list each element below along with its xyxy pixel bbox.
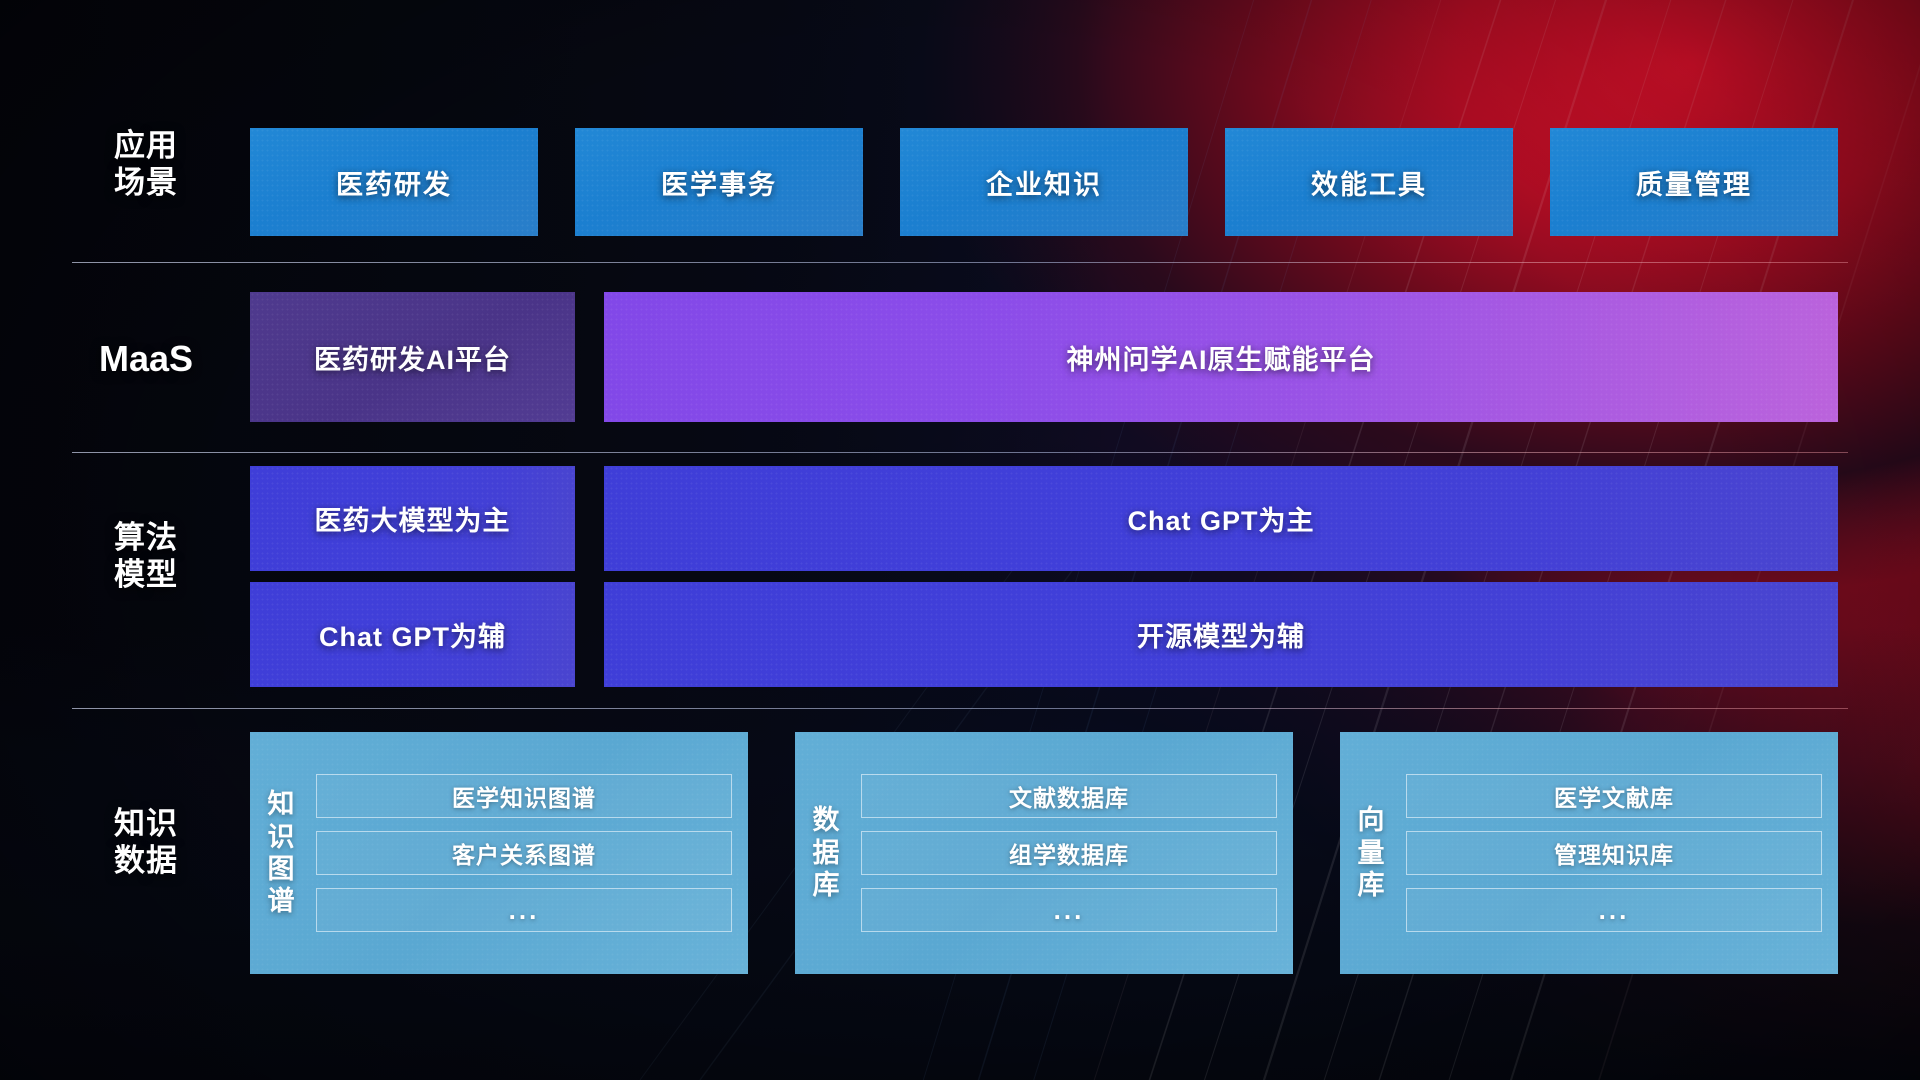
knowledge-chip-literature-database[interactable]: 文献数据库	[861, 774, 1277, 818]
divider-1	[72, 262, 1848, 263]
knowledge-chip-more[interactable]: ...	[1406, 888, 1822, 932]
vertical-label-char: 据	[813, 839, 840, 867]
divider-3	[72, 708, 1848, 709]
application-box-quality-management[interactable]: 质量管理	[1550, 128, 1838, 236]
box-label: 医药研发AI平台	[314, 338, 511, 377]
maas-box-shenzhou-ai-platform[interactable]: 神州问学AI原生赋能平台	[604, 292, 1838, 422]
box-label: 医药研发	[336, 163, 452, 202]
box-label: 质量管理	[1636, 163, 1752, 202]
box-label: Chat GPT为主	[1127, 499, 1314, 538]
maas-box-medical-ai-platform[interactable]: 医药研发AI平台	[250, 292, 575, 422]
chip-label: 文献数据库	[1009, 779, 1129, 813]
vertical-label-char: 库	[1358, 871, 1385, 899]
box-label: 开源模型为辅	[1137, 615, 1305, 654]
tier-label-line: 数据	[72, 843, 220, 880]
algorithm-box-chatgpt-secondary[interactable]: Chat GPT为辅	[250, 582, 575, 687]
vertical-label-char: 量	[1358, 839, 1385, 867]
knowledge-chip-omics-database[interactable]: 组学数据库	[861, 831, 1277, 875]
vertical-label-char: 数	[813, 806, 840, 834]
chip-label: ...	[1599, 895, 1630, 926]
box-label: 企业知识	[986, 163, 1102, 202]
knowledge-chip-medical-literature-library[interactable]: 医学文献库	[1406, 774, 1822, 818]
vertical-label-char: 知	[268, 790, 295, 818]
tier-label-algorithm-models: 算法 模型	[72, 520, 220, 593]
knowledge-chip-more[interactable]: ...	[316, 888, 732, 932]
knowledge-chip-more[interactable]: ...	[861, 888, 1277, 932]
vertical-label-char: 向	[1358, 806, 1385, 834]
vertical-label-char: 图	[268, 855, 295, 883]
vertical-label-char: 谱	[268, 887, 295, 915]
tier-label-knowledge-data: 知识 数据	[72, 806, 220, 879]
knowledge-panel-knowledge-graph[interactable]: 知 识 图 谱 医学知识图谱 客户关系图谱 ...	[250, 732, 748, 974]
panel-vertical-label-vector-store: 向 量 库	[1340, 732, 1402, 974]
application-box-efficiency-tools[interactable]: 效能工具	[1225, 128, 1513, 236]
box-label: Chat GPT为辅	[319, 615, 506, 654]
application-box-medical-rd[interactable]: 医药研发	[250, 128, 538, 236]
knowledge-panel-database[interactable]: 数 据 库 文献数据库 组学数据库 ...	[795, 732, 1293, 974]
box-label: 医学事务	[661, 163, 777, 202]
chip-label: 组学数据库	[1009, 836, 1129, 870]
tier-label-maas: MaaS	[72, 338, 220, 380]
panel-vertical-label-knowledge-graph: 知 识 图 谱	[250, 732, 312, 974]
tier-label-line: 场景	[72, 165, 220, 202]
chip-label: 客户关系图谱	[452, 836, 596, 870]
chip-label: ...	[1054, 895, 1085, 926]
chip-label: 医学文献库	[1554, 779, 1674, 813]
divider-2	[72, 452, 1848, 453]
tier-label-application-scenarios: 应用 场景	[72, 128, 220, 201]
knowledge-panel-vector-store[interactable]: 向 量 库 医学文献库 管理知识库 ...	[1340, 732, 1838, 974]
panel-chip-list: 医学文献库 管理知识库 ...	[1402, 732, 1838, 974]
box-label: 神州问学AI原生赋能平台	[1067, 338, 1376, 377]
application-box-medical-affairs[interactable]: 医学事务	[575, 128, 863, 236]
tier-label-line: 算法	[72, 520, 220, 557]
algorithm-box-medical-large-model-primary[interactable]: 医药大模型为主	[250, 466, 575, 571]
algorithm-box-opensource-secondary[interactable]: 开源模型为辅	[604, 582, 1838, 687]
chip-label: ...	[509, 895, 540, 926]
chip-label: 医学知识图谱	[452, 779, 596, 813]
box-label: 效能工具	[1311, 163, 1427, 202]
tier-label-line: MaaS	[72, 338, 220, 380]
panel-vertical-label-database: 数 据 库	[795, 732, 857, 974]
box-label: 医药大模型为主	[315, 499, 511, 538]
vertical-label-char: 识	[268, 823, 295, 851]
diagram-canvas: 应用 场景 医药研发 医学事务 企业知识 效能工具 质量管理 MaaS 医药研发…	[0, 0, 1920, 1080]
tier-label-line: 模型	[72, 557, 220, 594]
knowledge-chip-customer-relation-graph[interactable]: 客户关系图谱	[316, 831, 732, 875]
panel-chip-list: 文献数据库 组学数据库 ...	[857, 732, 1293, 974]
knowledge-chip-management-knowledge-library[interactable]: 管理知识库	[1406, 831, 1822, 875]
application-box-enterprise-knowledge[interactable]: 企业知识	[900, 128, 1188, 236]
chip-label: 管理知识库	[1554, 836, 1674, 870]
tier-label-line: 应用	[72, 128, 220, 165]
algorithm-box-chatgpt-primary[interactable]: Chat GPT为主	[604, 466, 1838, 571]
vertical-label-char: 库	[813, 871, 840, 899]
knowledge-chip-medical-knowledge-graph[interactable]: 医学知识图谱	[316, 774, 732, 818]
tier-label-line: 知识	[72, 806, 220, 843]
panel-chip-list: 医学知识图谱 客户关系图谱 ...	[312, 732, 748, 974]
